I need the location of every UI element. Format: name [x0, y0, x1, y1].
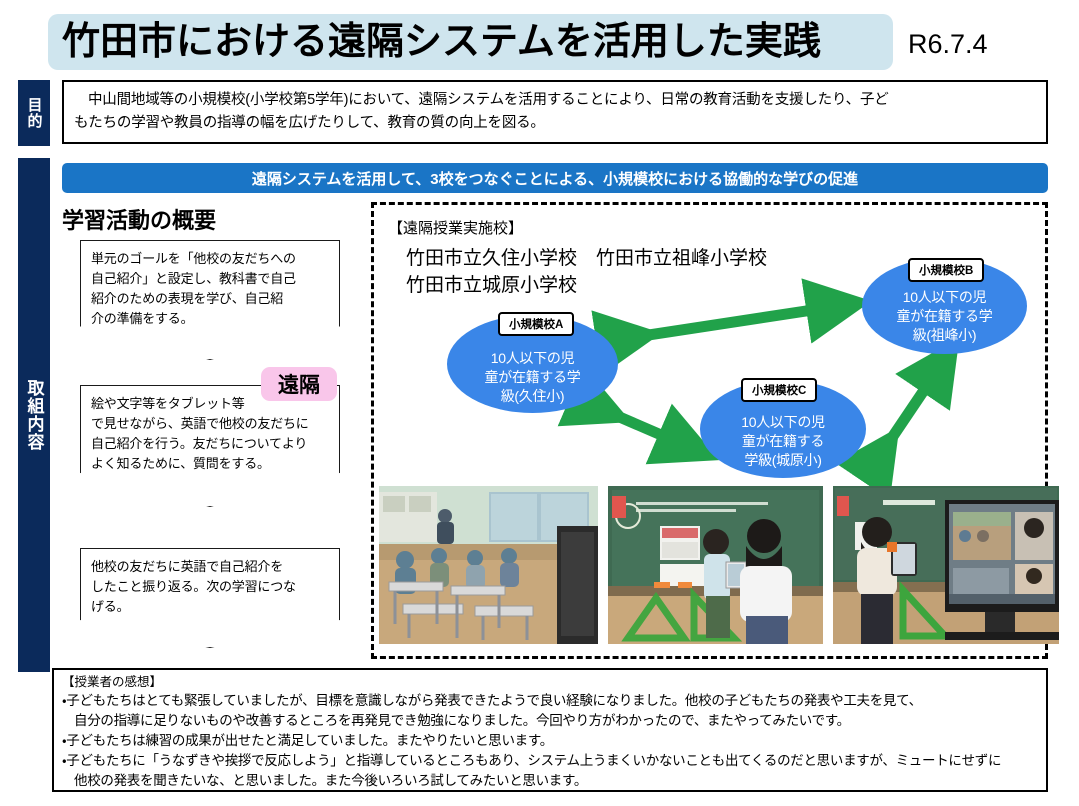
school-c-line-1: 10人以下の児: [741, 413, 824, 432]
flow-step-1-line-2: 自己紹介」と設定し、教科書で自己: [91, 269, 329, 289]
purpose-line-1: 中山間地域等の小規模校(小学校第5学年)において、遠隔システムを活用することによ…: [74, 89, 1036, 112]
photo-students-blackboard: [608, 486, 823, 644]
school-a-tag: 小規模校A: [498, 312, 574, 336]
school-c-tag: 小規模校C: [741, 378, 817, 402]
photo-teacher-remote-screen: [833, 486, 1059, 644]
flow-step-1-line-3: 紹介のための表現を学び、自己紹: [91, 289, 329, 309]
purpose-line-2: もたちの学習や教員の指導の幅を広げたりして、教育の質の向上を図る。: [74, 112, 1036, 135]
teacher-comments-box: 【授業者の感想】 ・子どもたちはとても緊張していましたが、目標を意識しながら発表…: [52, 668, 1048, 792]
school-c-line-2: 童が在籍する: [741, 432, 824, 451]
section-heading: 学習活動の概要: [62, 203, 216, 235]
implementation-schools-line-1: 竹田市立久住小学校 竹田市立祖峰小学校: [406, 243, 767, 270]
title-date: R6.7.4: [908, 24, 988, 64]
comments-heading: 【授業者の感想】: [62, 674, 1038, 691]
title-area: 竹田市における遠隔システムを活用した実践 R6.7.4: [48, 14, 1048, 72]
school-b-line-2: 童が在籍する学: [897, 307, 993, 326]
rail-label-content: 取組内容: [18, 158, 50, 672]
comment-1-line-2: 自分の指導に足りないものや改善するところを再発見でき勉強になりました。今回やり方…: [62, 711, 1038, 731]
rail-label-purpose: 目的: [18, 80, 50, 146]
comment-1-line-1: ・子どもたちはとても緊張していましたが、目標を意識しながら発表できたようで良い経…: [62, 691, 1038, 711]
flow-step-2: 絵や文字等をタブレット等 で見せながら、英語で他校の友だちに 自己紹介を行う。友…: [80, 385, 340, 507]
flow-step-2-line-2: で見せながら、英語で他校の友だちに: [91, 414, 329, 434]
school-a-line-1: 10人以下の児: [485, 349, 581, 368]
flow-step-3: 他校の友だちに英語で自己紹介を したこと振り返る。次の学習につな げる。: [80, 548, 340, 648]
comment-2-line-1: ・子どもたちは練習の成果が出せたと満足していました。またやりたいと思います。: [62, 731, 1038, 751]
implementation-heading: 【遠隔授業実施校】: [388, 217, 523, 238]
purpose-box: 中山間地域等の小規模校(小学校第5学年)において、遠隔システムを活用することによ…: [62, 80, 1048, 144]
flow-step-3-line-3: げる。: [91, 597, 329, 617]
school-b-line-3: 級(祖峰小): [897, 326, 993, 345]
school-c-line-3: 学級(城原小): [741, 451, 824, 470]
flow-step-2-line-3: 自己紹介を行う。友だちについてより: [91, 434, 329, 454]
photo-classroom-students: [379, 486, 598, 644]
implementation-schools-line-2: 竹田市立城原小学校: [406, 270, 577, 297]
flow-step-1-line-4: 介の準備をする。: [91, 309, 329, 329]
remote-tag: 遠隔: [261, 367, 337, 401]
flow-step-1: 単元のゴールを「他校の友だちへの 自己紹介」と設定し、教科書で自己 紹介のための…: [80, 240, 340, 360]
school-a-line-2: 童が在籍する学: [485, 368, 581, 387]
school-b-tag: 小規模校B: [908, 258, 984, 282]
comment-3-line-1: ・子どもたちに「うなずきや挨拶で反応しよう」と指導しているところもあり、システム…: [62, 751, 1038, 771]
flow-step-2-line-4: よく知るために、質問をする。: [91, 454, 329, 474]
school-b-line-1: 10人以下の児: [897, 288, 993, 307]
slide-page: 竹田市における遠隔システムを活用した実践 R6.7.4 目的 取組内容 中山間地…: [0, 0, 1079, 806]
flow-step-1-line-1: 単元のゴールを「他校の友だちへの: [91, 249, 329, 269]
flow-step-3-line-1: 他校の友だちに英語で自己紹介を: [91, 557, 329, 577]
page-title: 竹田市における遠隔システムを活用した実践: [62, 16, 892, 68]
highlight-banner: 遠隔システムを活用して、3校をつなぐことによる、小規模校における協働的な学びの促…: [62, 163, 1048, 193]
flow-step-3-line-2: したこと振り返る。次の学習につな: [91, 577, 329, 597]
comment-3-line-2: 他校の発表を聞きたいな、と思いました。また今後いろいろ試してみたいと思います。: [62, 771, 1038, 791]
school-a-line-3: 級(久住小): [485, 387, 581, 406]
